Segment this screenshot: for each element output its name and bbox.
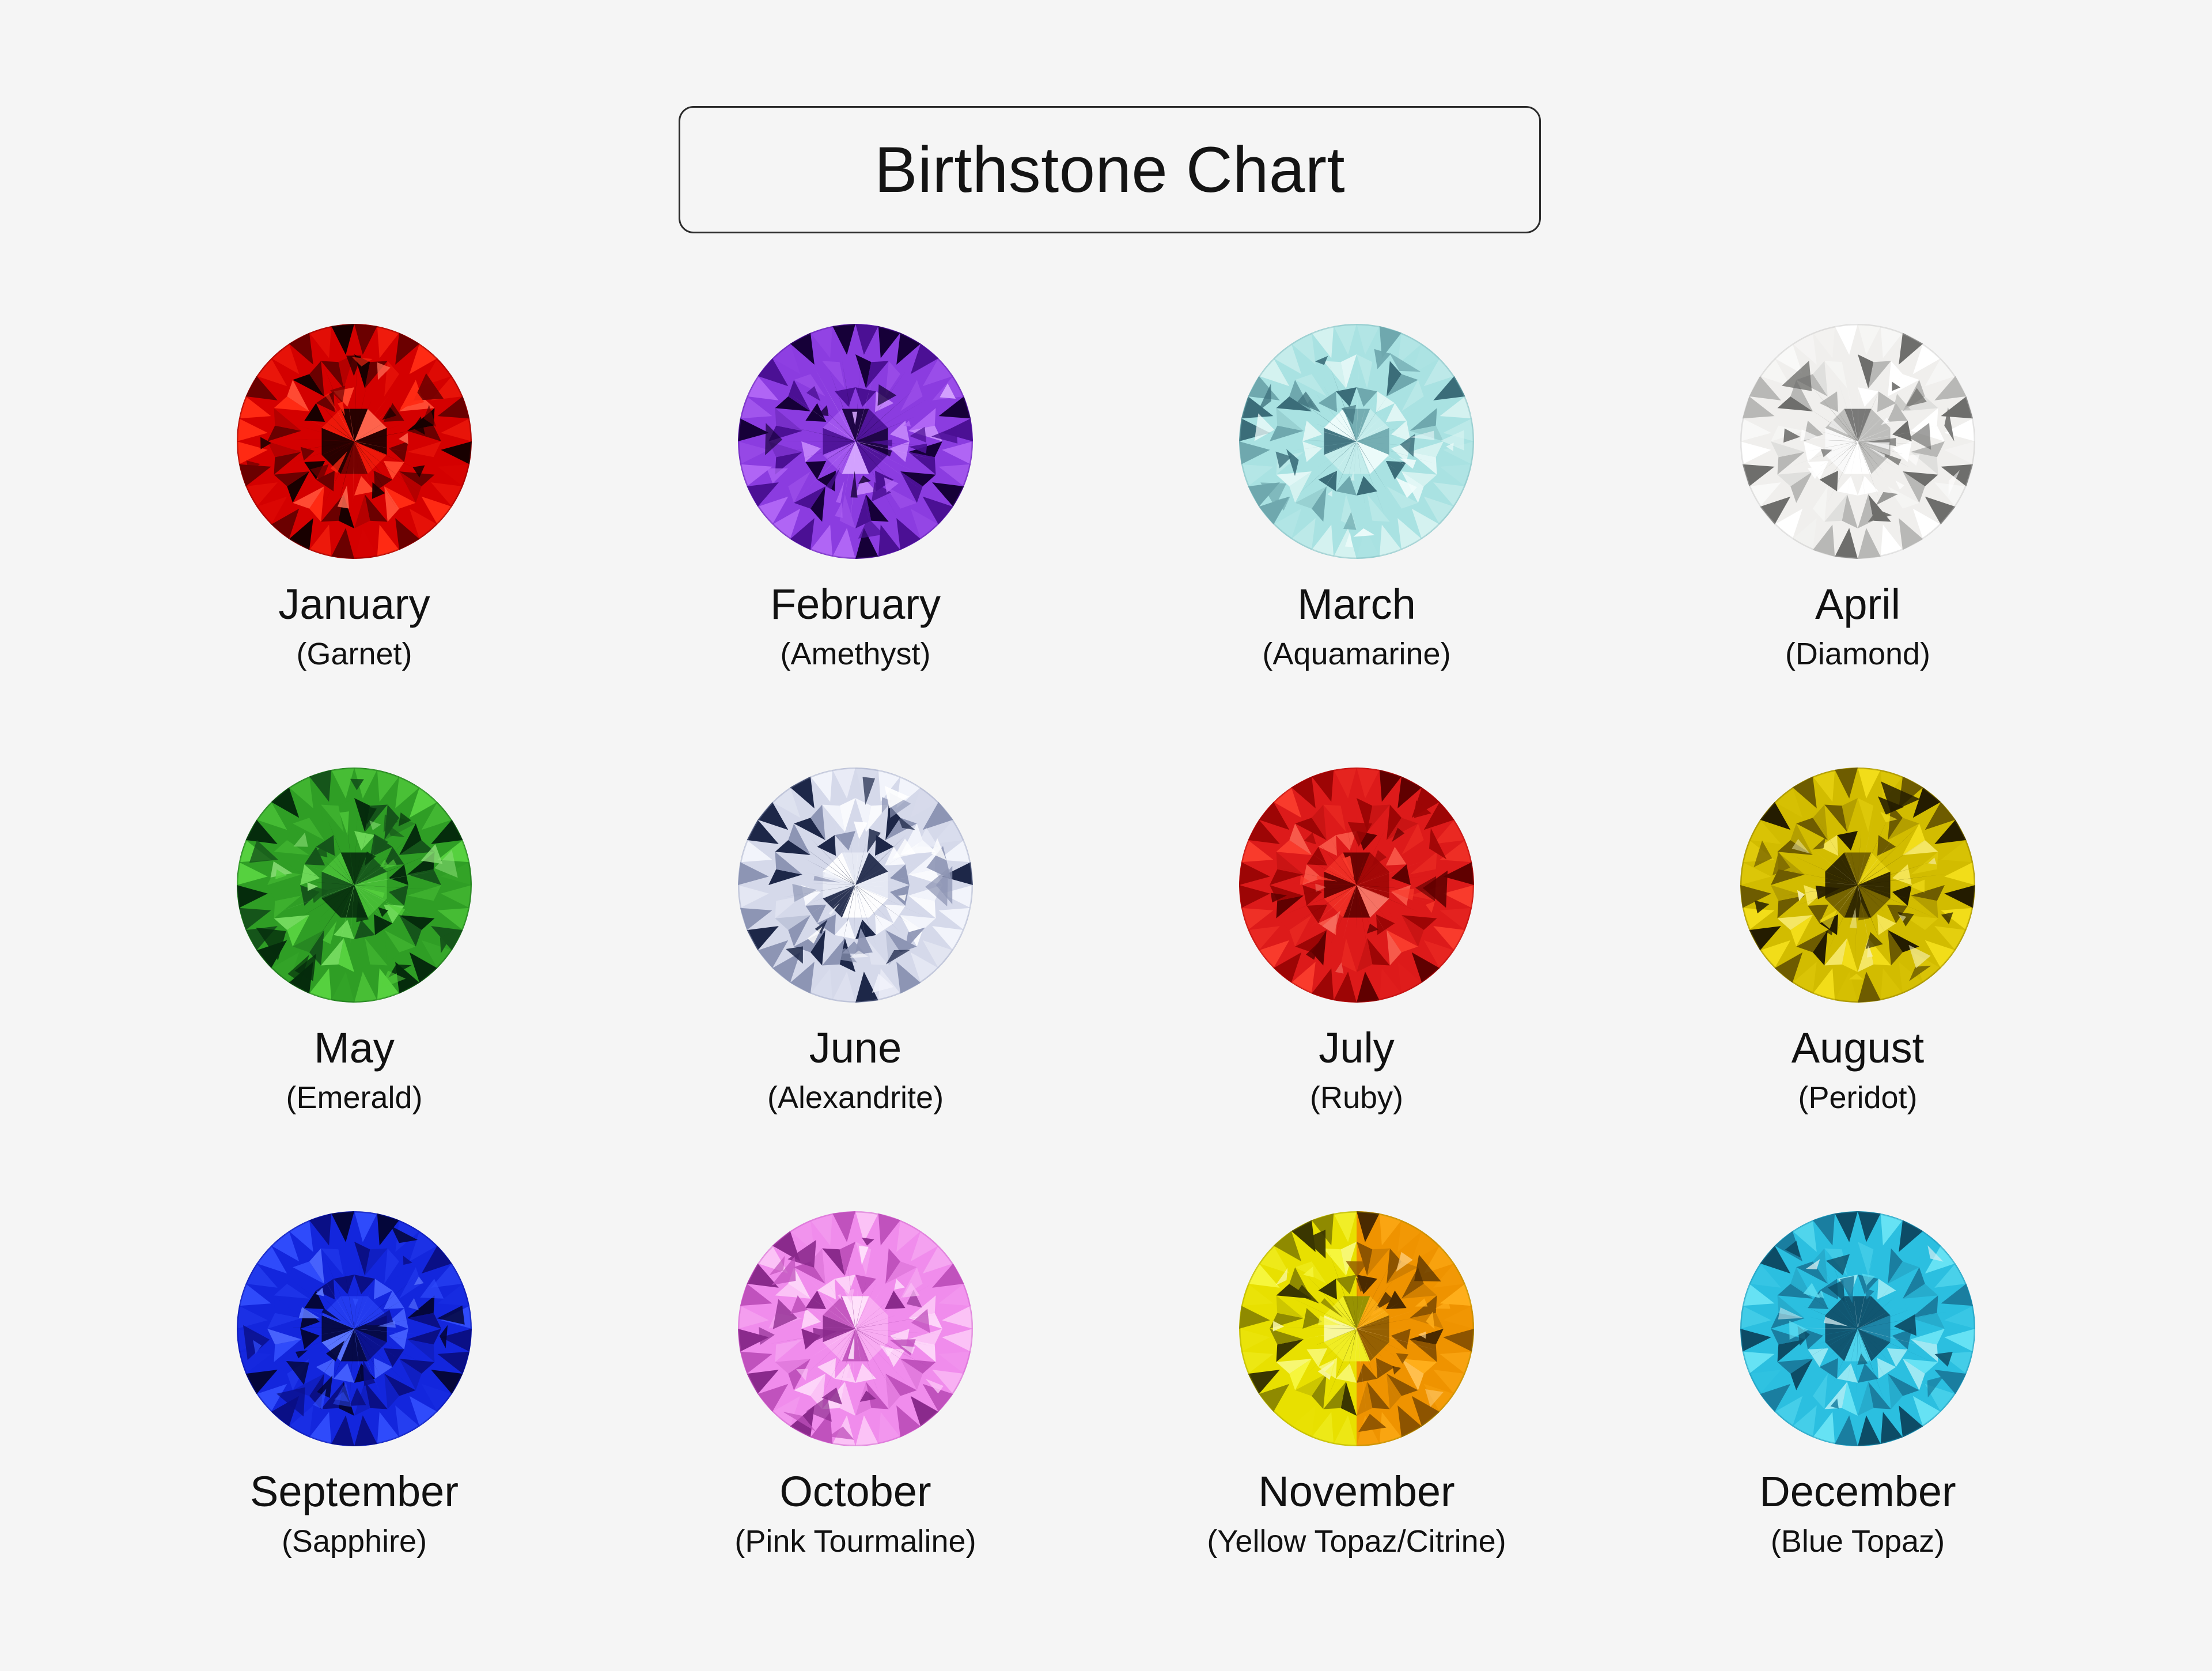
- stone-label: (Aquamarine): [1262, 638, 1450, 670]
- month-label: September: [250, 1470, 459, 1513]
- page-title: Birthstone Chart: [874, 138, 1345, 202]
- month-label: July: [1319, 1027, 1395, 1069]
- stone-label: (Amethyst): [780, 638, 930, 670]
- stone-label: (Diamond): [1785, 638, 1930, 670]
- month-label: May: [314, 1027, 395, 1069]
- round-brilliant-gem-icon: [236, 1210, 473, 1447]
- stone-label: (Alexandrite): [767, 1082, 944, 1113]
- month-label: October: [779, 1470, 931, 1513]
- round-brilliant-gem-icon: [1238, 766, 1475, 1004]
- month-label: March: [1297, 583, 1416, 626]
- stone-label: (Peridot): [1798, 1082, 1917, 1113]
- birthstone-cell: December(Blue Topaz): [1607, 1210, 2108, 1671]
- birthstone-cell: January(Garnet): [104, 323, 605, 766]
- month-label: April: [1815, 583, 1900, 626]
- month-label: November: [1258, 1470, 1455, 1513]
- round-brilliant-gem-icon: [1238, 1210, 1475, 1447]
- month-label: June: [809, 1027, 902, 1069]
- round-brilliant-gem-icon: [1238, 323, 1475, 560]
- stone-label: (Pink Tourmaline): [734, 1526, 976, 1557]
- stone-label: (Ruby): [1310, 1082, 1403, 1113]
- birthstone-cell: April(Diamond): [1607, 323, 2108, 766]
- birthstone-cell: June(Alexandrite): [605, 766, 1106, 1210]
- birthstone-cell: November(Yellow Topaz/Citrine): [1106, 1210, 1607, 1671]
- month-label: December: [1759, 1470, 1956, 1513]
- stone-label: (Yellow Topaz/Citrine): [1207, 1526, 1506, 1557]
- round-brilliant-gem-icon: [737, 323, 974, 560]
- round-brilliant-gem-icon: [1739, 766, 1976, 1004]
- stone-label: (Blue Topaz): [1771, 1526, 1945, 1557]
- month-label: August: [1791, 1027, 1924, 1069]
- round-brilliant-gem-icon: [737, 766, 974, 1004]
- stone-label: (Emerald): [286, 1082, 422, 1113]
- round-brilliant-gem-icon: [236, 766, 473, 1004]
- round-brilliant-gem-icon: [1739, 323, 1976, 560]
- birthstone-cell: October(Pink Tourmaline): [605, 1210, 1106, 1671]
- birthstone-chart-page: Birthstone Chart January(Garnet)February…: [0, 0, 2212, 1659]
- stone-label: (Sapphire): [282, 1526, 427, 1557]
- month-label: February: [770, 583, 941, 626]
- birthstone-grid: January(Garnet)February(Amethyst)March(A…: [104, 323, 2108, 1671]
- round-brilliant-gem-icon: [236, 323, 473, 560]
- month-label: January: [278, 583, 430, 626]
- round-brilliant-gem-icon: [737, 1210, 974, 1447]
- stone-label: (Garnet): [296, 638, 412, 670]
- birthstone-cell: August(Peridot): [1607, 766, 2108, 1210]
- birthstone-cell: February(Amethyst): [605, 323, 1106, 766]
- birthstone-cell: September(Sapphire): [104, 1210, 605, 1671]
- page-title-box: Birthstone Chart: [679, 106, 1541, 233]
- birthstone-cell: May(Emerald): [104, 766, 605, 1210]
- birthstone-cell: March(Aquamarine): [1106, 323, 1607, 766]
- round-brilliant-gem-icon: [1739, 1210, 1976, 1447]
- birthstone-cell: July(Ruby): [1106, 766, 1607, 1210]
